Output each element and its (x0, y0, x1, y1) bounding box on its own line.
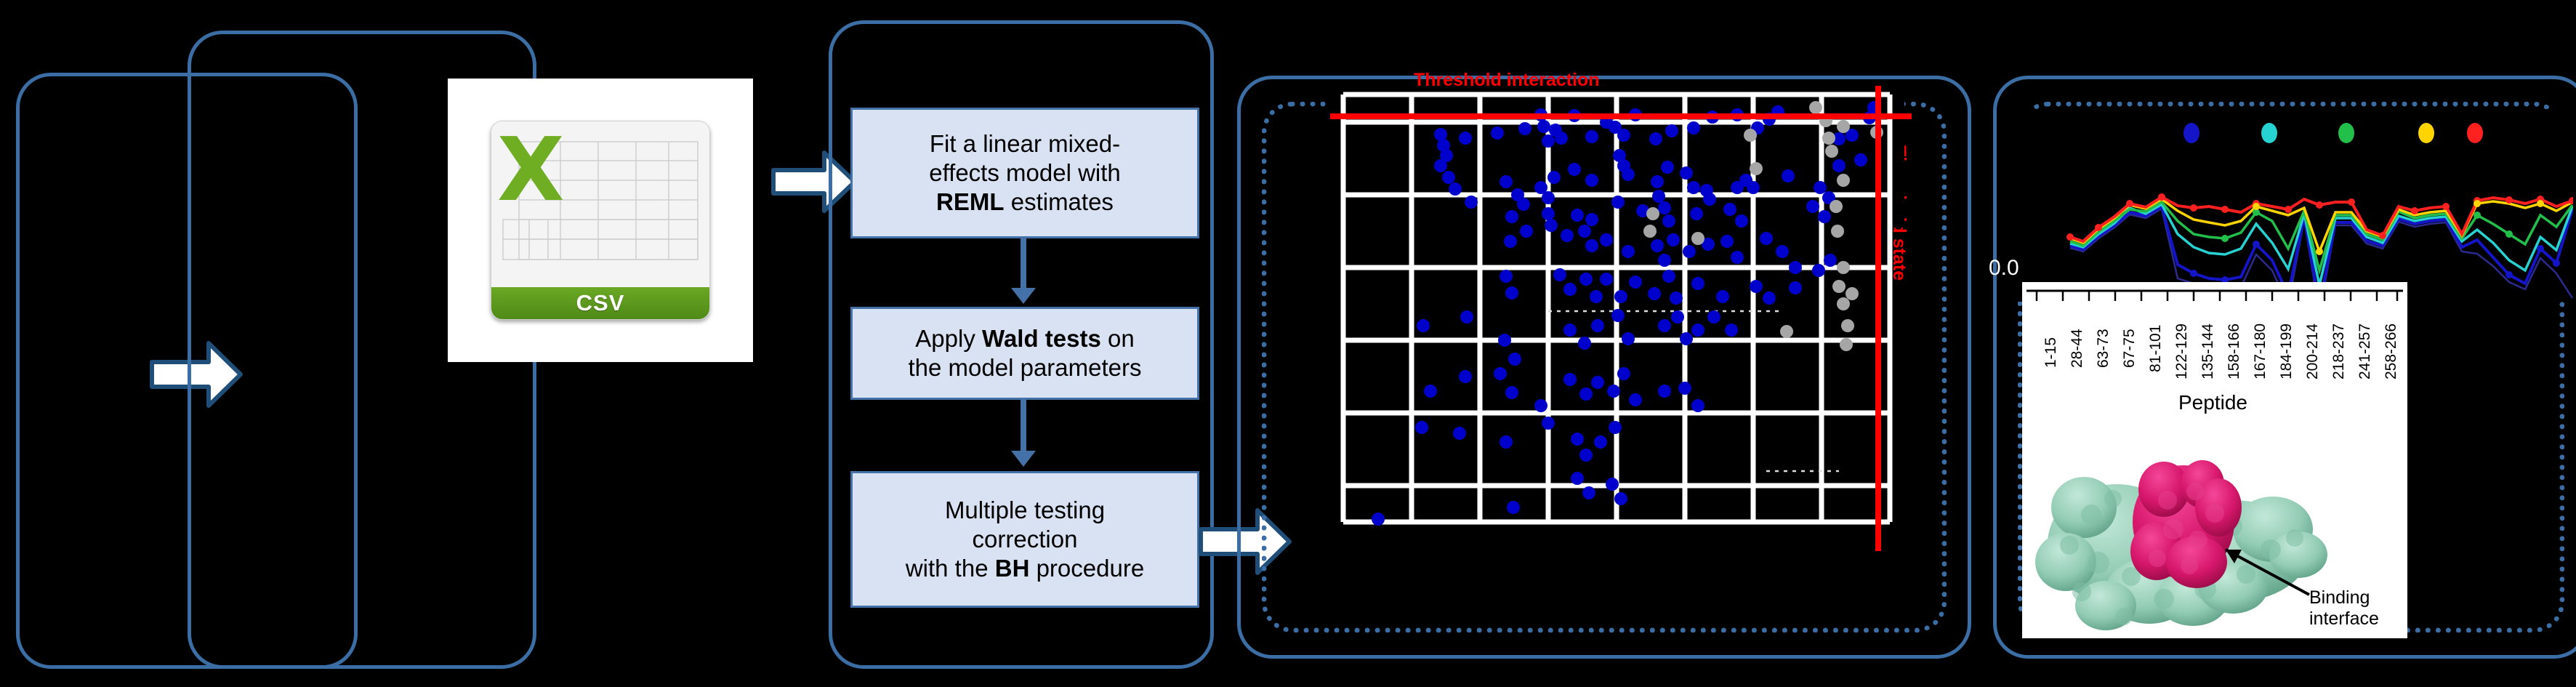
tick-label: 28-44 (2069, 329, 2086, 368)
tick-label: 218-237 (2330, 324, 2348, 379)
step-wald-tests-text: Apply Wald tests on the model parameters (909, 324, 1142, 383)
step-wald-tests[interactable]: Apply Wald tests on the model parameters (850, 307, 1199, 400)
tick-label: 258-266 (2383, 324, 2400, 379)
step-multiple-testing-text: Multiple testing correction with the BH … (906, 496, 1144, 584)
csv-spreadsheet-grid: X (491, 121, 709, 287)
tick-label: 63-73 (2095, 329, 2112, 368)
tick-label: 241-257 (2356, 324, 2374, 379)
tick-label: 167-180 (2252, 324, 2269, 379)
diagram-canvas: X CSV Fit a linear mixed- effects model … (0, 0, 2576, 687)
peptide-axis-title: Peptide (2178, 391, 2247, 414)
legend-markers (2183, 123, 2483, 143)
y-axis-tick-0: 0.0 (1989, 256, 2019, 281)
connector-1-arrowhead (1011, 288, 1036, 304)
binding-interface-line2: interface (2309, 608, 2379, 630)
tick-label: 200-214 (2304, 324, 2322, 379)
tick-label: 81-101 (2147, 325, 2165, 372)
peptide-tick-labels: 1-15 28-44 63-73 67-75 81-101 122-129 13… (2022, 282, 2407, 369)
svg-text:X: X (497, 121, 565, 221)
step-fit-model-text: Fit a linear mixed- effects model with R… (929, 129, 1121, 217)
csv-label: CSV (576, 290, 625, 316)
csv-icon-card: X CSV (448, 79, 753, 362)
step-fit-model[interactable]: Fit a linear mixed- effects model with R… (850, 108, 1199, 238)
tick-label: 135-144 (2199, 324, 2217, 379)
connector-2 (1021, 400, 1026, 452)
connector-2-arrowhead (1011, 451, 1036, 467)
results-figure-card: 1-15 28-44 63-73 67-75 81-101 122-129 13… (2022, 282, 2407, 638)
tick-label: 67-75 (2121, 329, 2138, 368)
step-multiple-testing[interactable]: Multiple testing correction with the BH … (850, 471, 1199, 608)
tick-label: 122-129 (2173, 324, 2191, 379)
peptide-line-chart (2013, 109, 2573, 302)
csv-label-bar: CSV (491, 287, 709, 319)
connector-1 (1021, 238, 1026, 289)
binding-interface-annotation: Binding interface (2309, 587, 2379, 630)
tick-label: 184-199 (2278, 324, 2295, 379)
csv-file-icon: X CSV (491, 121, 710, 320)
binding-interface-line1: Binding (2309, 587, 2379, 608)
tick-label: 158-166 (2226, 324, 2243, 379)
scatter-plot-canvas (1330, 86, 1912, 566)
tick-label: 1-15 (2042, 337, 2060, 368)
